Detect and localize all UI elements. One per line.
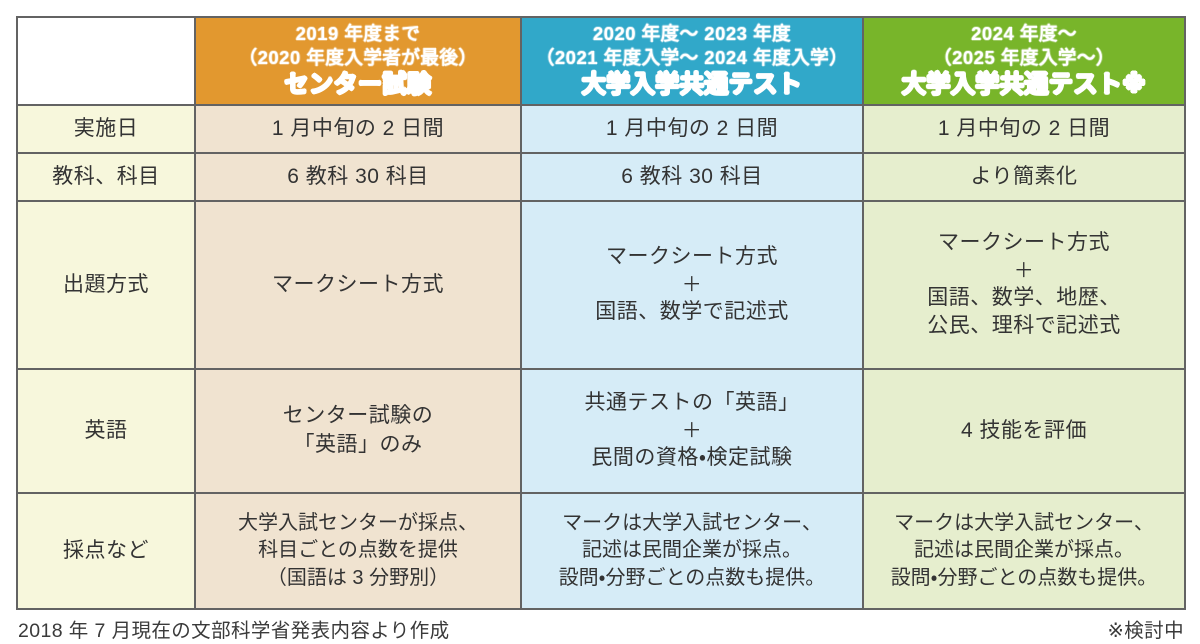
exam-comparison-table: 2019 年度まで （2020 年度入学者が最後） センター試験 2020 年度… <box>16 16 1186 610</box>
cell-english-center: センター試験の 「英語」のみ <box>195 369 521 493</box>
cell-line: マークシート方式 <box>868 229 1180 258</box>
cell-line: 「英語」のみ <box>200 431 516 460</box>
cell-line-plus: ＋ <box>868 258 1180 284</box>
cell-line: 公民、理科で記述式 <box>868 312 1180 341</box>
cell-subjects-center: 6 教科 30 科目 <box>195 153 521 201</box>
cell-line: 国語、数学で記述式 <box>526 298 858 327</box>
cell-line-plus: ＋ <box>526 272 858 298</box>
cell-lines: 1 月中旬の 2 日間 <box>200 115 516 144</box>
table-row: 採点など 大学入試センターが採点、 科目ごとの点数を提供 （国語は 3 分野別）… <box>17 493 1185 609</box>
footnote-pending: ※検討中 <box>1108 614 1184 643</box>
cell-line: 4 技能を評価 <box>868 417 1180 446</box>
cell-lines: センター試験の 「英語」のみ <box>200 402 516 460</box>
table-header-row: 2019 年度まで （2020 年度入学者が最後） センター試験 2020 年度… <box>17 17 1185 105</box>
table-row: 英語 センター試験の 「英語」のみ 共通テストの「英語」 ＋ 民間の資格・検定試… <box>17 369 1185 493</box>
cell-scoring-common-2020: マークは大学入試センター、 記述は民間企業が採点。 設問・分野ごとの点数も提供。 <box>521 493 863 609</box>
cell-format-common-2020: マークシート方式 ＋ 国語、数学で記述式 <box>521 201 863 369</box>
cell-subjects-common-2020: 6 教科 30 科目 <box>521 153 863 201</box>
cell-format-center: マークシート方式 <box>195 201 521 369</box>
cell-line: 6 教科 30 科目 <box>526 163 858 192</box>
table-row: 出題方式 マークシート方式 マークシート方式 ＋ 国語、数学で記述式 マークシー <box>17 201 1185 369</box>
cell-date-common-2024: 1 月中旬の 2 日間 <box>863 105 1185 153</box>
footnotes: 2018 年 7 月現在の文部科学省発表内容より作成 ※検討中 <box>16 614 1184 644</box>
row-label-subjects: 教科、科目 <box>17 153 195 201</box>
cell-scoring-common-2024: マークは大学入試センター、 記述は民間企業が採点。 設問・分野ごとの点数も提供。 <box>863 493 1185 609</box>
cell-line-plus: ＋ <box>526 418 858 444</box>
cell-english-common-2020: 共通テストの「英語」 ＋ 民間の資格・検定試験 <box>521 369 863 493</box>
cell-line: 大学入試センターが採点、 <box>200 510 516 538</box>
cell-line: 共通テストの「英語」 <box>526 389 858 418</box>
cell-subjects-common-2024: より簡素化 <box>863 153 1185 201</box>
cell-line: 科目ごとの点数を提供 <box>200 537 516 565</box>
cell-lines: 1 月中旬の 2 日間 <box>526 115 858 144</box>
header-examname-common-2024: 大学入学共通テスト※ <box>868 70 1180 100</box>
cell-lines: 4 技能を評価 <box>868 417 1180 446</box>
footnote-source: 2018 年 7 月現在の文部科学省発表内容より作成 <box>18 614 450 643</box>
cell-date-center: 1 月中旬の 2 日間 <box>195 105 521 153</box>
cell-english-common-2024: 4 技能を評価 <box>863 369 1185 493</box>
cell-lines: 1 月中旬の 2 日間 <box>868 115 1180 144</box>
cell-line: マークシート方式 <box>200 271 516 300</box>
header-column-common-2020: 2020 年度〜 2023 年度 （2021 年度入学〜 2024 年度入学） … <box>521 17 863 105</box>
cell-scoring-center: 大学入試センターが採点、 科目ごとの点数を提供 （国語は 3 分野別） <box>195 493 521 609</box>
header-examname-common-2020: 大学入学共通テスト <box>526 70 858 100</box>
header-corner-cell <box>17 17 195 105</box>
cell-line: マークは大学入試センター、 <box>868 510 1180 538</box>
table-row: 実施日 1 月中旬の 2 日間 1 月中旬の 2 日間 1 月中旬の 2 日間 <box>17 105 1185 153</box>
header-period-center: 2019 年度まで <box>200 22 516 45</box>
cell-line: 記述は民間企業が採点。 <box>526 537 858 565</box>
cell-line: マークシート方式 <box>526 243 858 272</box>
cell-line: 設問・分野ごとの点数も提供。 <box>526 565 858 593</box>
cell-line: 記述は民間企業が採点。 <box>868 537 1180 565</box>
cell-lines: マークは大学入試センター、 記述は民間企業が採点。 設問・分野ごとの点数も提供。 <box>526 510 858 593</box>
cell-line: より簡素化 <box>868 163 1180 192</box>
cell-line: センター試験の <box>200 402 516 431</box>
cell-line: 1 月中旬の 2 日間 <box>868 115 1180 144</box>
cell-line: 6 教科 30 科目 <box>200 163 516 192</box>
cell-line: 設問・分野ごとの点数も提供。 <box>868 565 1180 593</box>
row-label-english: 英語 <box>17 369 195 493</box>
row-label-format: 出題方式 <box>17 201 195 369</box>
cell-lines: マークシート方式 ＋ 国語、数学、地歴、 公民、理科で記述式 <box>868 229 1180 342</box>
header-column-center: 2019 年度まで （2020 年度入学者が最後） センター試験 <box>195 17 521 105</box>
cell-line: 1 月中旬の 2 日間 <box>526 115 858 144</box>
cell-lines: マークシート方式 <box>200 271 516 300</box>
cell-line: 国語、数学、地歴、 <box>868 284 1180 313</box>
cell-lines: 6 教科 30 科目 <box>526 163 858 192</box>
cell-lines: マークシート方式 ＋ 国語、数学で記述式 <box>526 243 858 327</box>
cell-line: 民間の資格・検定試験 <box>526 444 858 473</box>
table-row: 教科、科目 6 教科 30 科目 6 教科 30 科目 より簡素化 <box>17 153 1185 201</box>
cell-line: （国語は 3 分野別） <box>200 565 516 593</box>
header-period-common-2024: 2024 年度〜 <box>868 22 1180 45</box>
header-enrollment-common-2024: （2025 年度入学〜） <box>868 46 1180 69</box>
header-examname-center: センター試験 <box>200 70 516 100</box>
row-label-scoring: 採点など <box>17 493 195 609</box>
row-label-date: 実施日 <box>17 105 195 153</box>
header-enrollment-center: （2020 年度入学者が最後） <box>200 46 516 69</box>
cell-lines: マークは大学入試センター、 記述は民間企業が採点。 設問・分野ごとの点数も提供。 <box>868 510 1180 593</box>
cell-line: 1 月中旬の 2 日間 <box>200 115 516 144</box>
cell-date-common-2020: 1 月中旬の 2 日間 <box>521 105 863 153</box>
cell-lines: 共通テストの「英語」 ＋ 民間の資格・検定試験 <box>526 389 858 473</box>
header-enrollment-common-2020: （2021 年度入学〜 2024 年度入学） <box>526 46 858 69</box>
cell-lines: より簡素化 <box>868 163 1180 192</box>
header-column-common-2024: 2024 年度〜 （2025 年度入学〜） 大学入学共通テスト※ <box>863 17 1185 105</box>
cell-line: マークは大学入試センター、 <box>526 510 858 538</box>
header-period-common-2020: 2020 年度〜 2023 年度 <box>526 22 858 45</box>
comparison-table-page: 2019 年度まで （2020 年度入学者が最後） センター試験 2020 年度… <box>0 0 1200 630</box>
cell-lines: 大学入試センターが採点、 科目ごとの点数を提供 （国語は 3 分野別） <box>200 510 516 593</box>
cell-lines: 6 教科 30 科目 <box>200 163 516 192</box>
cell-format-common-2024: マークシート方式 ＋ 国語、数学、地歴、 公民、理科で記述式 <box>863 201 1185 369</box>
